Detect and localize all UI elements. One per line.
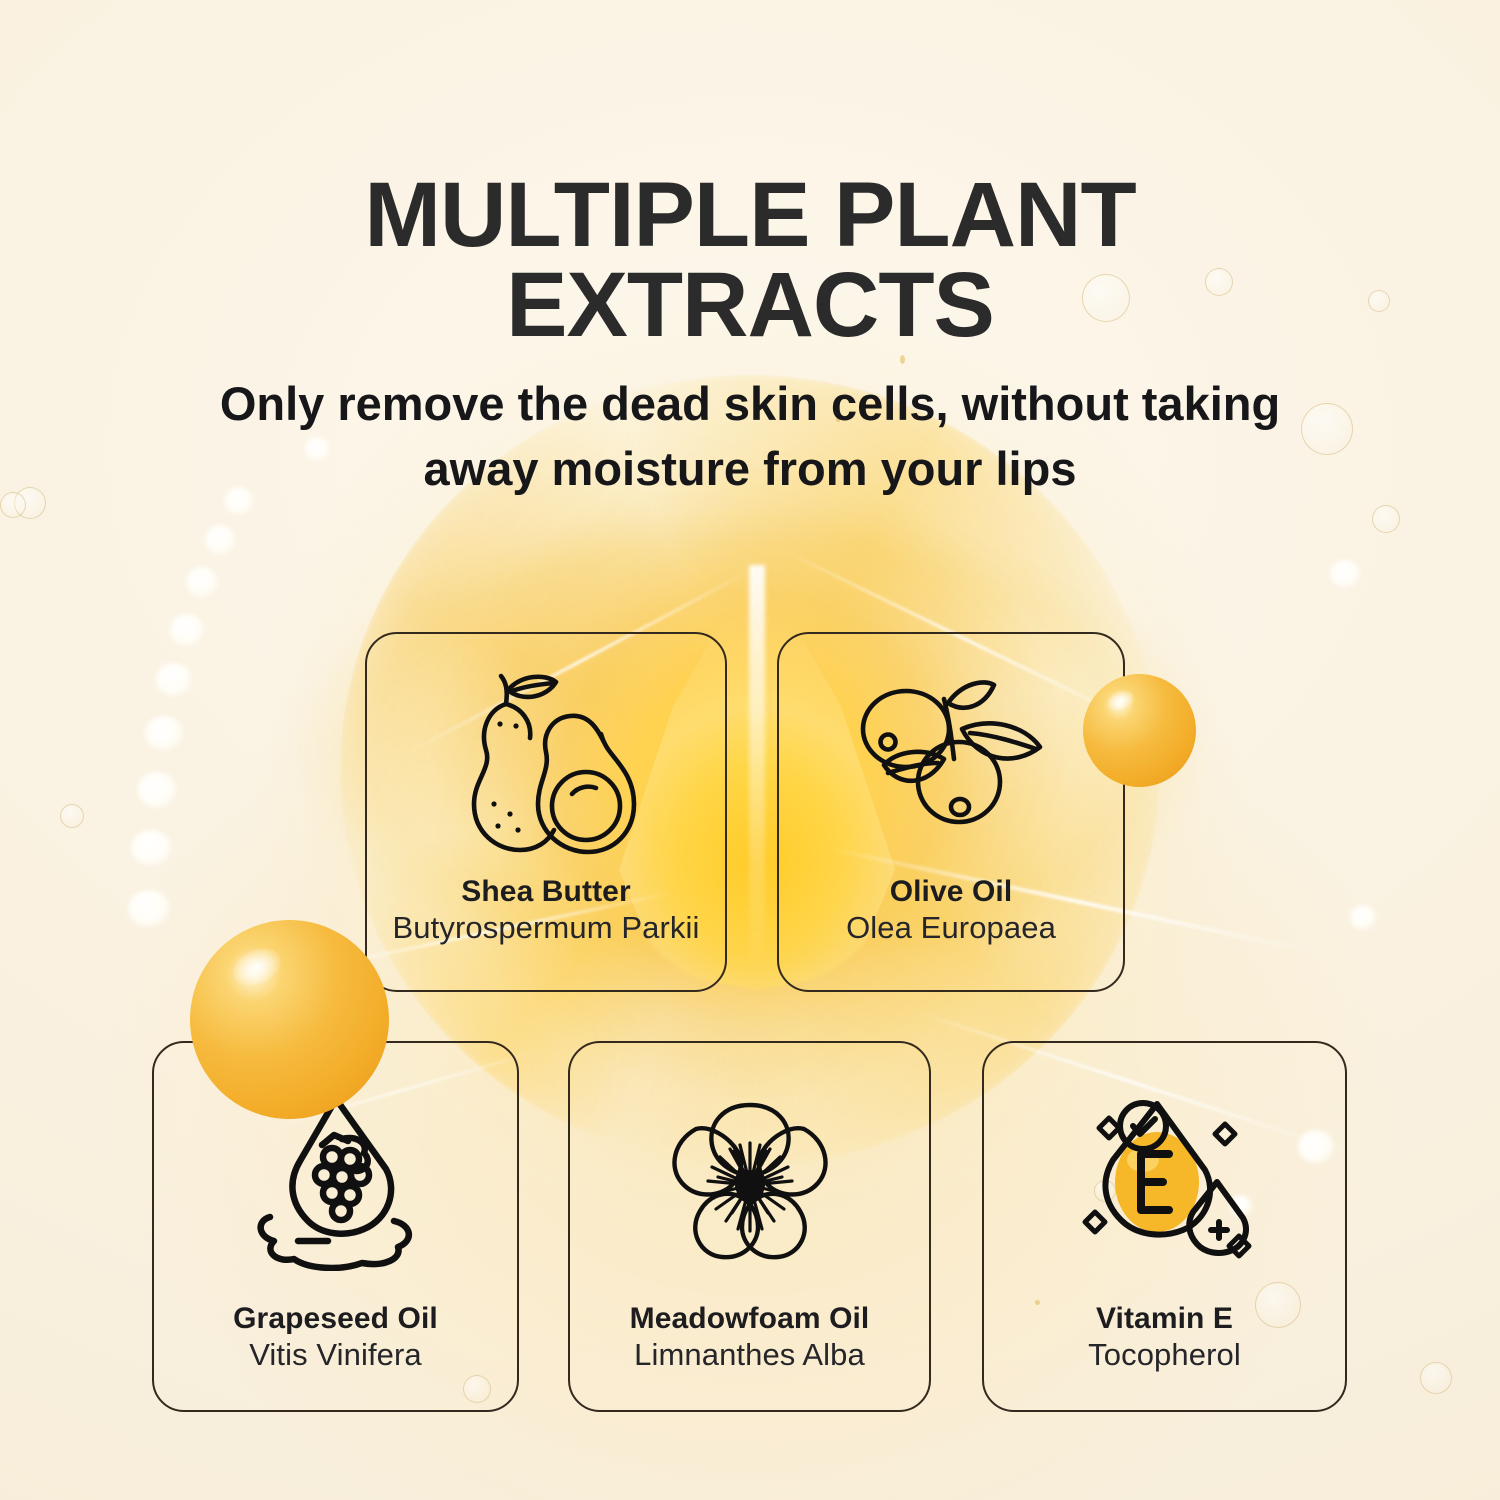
ingredient-card-olive-oil[interactable]: Olive Oil Olea Europaea	[777, 632, 1125, 992]
ingredient-label: Olive Oil Olea Europaea	[779, 874, 1123, 948]
bubble-ring	[60, 804, 84, 828]
bokeh-dot	[1330, 560, 1360, 588]
title-line-2: EXTRACTS	[0, 260, 1500, 350]
grape-droplet-icon	[154, 1081, 517, 1281]
product-infographic: MULTIPLE PLANT EXTRACTS Only remove the …	[0, 0, 1500, 1500]
ingredient-card-meadowfoam-oil[interactable]: Meadowfoam Oil Limnanthes Alba	[568, 1041, 931, 1412]
title-line-1: MULTIPLE PLANT	[364, 164, 1135, 266]
ingredient-card-vitamin-e[interactable]: Vitamin E Tocopherol	[982, 1041, 1347, 1412]
page-subtitle: Only remove the dead skin cells, without…	[130, 372, 1370, 502]
bubble-ring	[1420, 1362, 1452, 1394]
bokeh-dot	[170, 614, 204, 646]
ingredient-card-shea-butter[interactable]: Shea Butter Butyrospermum Parkii	[365, 632, 727, 992]
pear-avocado-icon	[367, 660, 725, 872]
ingredient-name: Grapeseed Oil	[154, 1301, 517, 1336]
bokeh-dot	[128, 890, 170, 927]
bokeh-dot	[145, 716, 183, 750]
bokeh-dot	[131, 830, 172, 866]
vitamin-e-droplet-icon	[984, 1081, 1345, 1281]
ingredient-label: Shea Butter Butyrospermum Parkii	[367, 874, 725, 948]
ingredient-label: Grapeseed Oil Vitis Vinifera	[154, 1301, 517, 1375]
ingredient-latin-name: Butyrospermum Parkii	[367, 909, 725, 948]
subtitle-line-1: Only remove the dead skin cells, without…	[220, 377, 1280, 430]
oil-speck	[900, 355, 905, 364]
ingredient-name: Vitamin E	[984, 1301, 1345, 1336]
decorative-sphere-right	[1083, 674, 1196, 787]
bokeh-dot	[205, 525, 235, 555]
background-droplet-highlight	[749, 565, 765, 975]
ingredient-latin-name: Olea Europaea	[779, 909, 1123, 948]
meadowfoam-flower-icon	[570, 1081, 929, 1281]
olive-branch-icon	[779, 660, 1123, 872]
subtitle-line-2: away moisture from your lips	[424, 442, 1077, 495]
ingredient-latin-name: Tocopherol	[984, 1336, 1345, 1375]
ingredient-name: Meadowfoam Oil	[570, 1301, 929, 1336]
bokeh-dot	[137, 772, 177, 808]
bokeh-dot	[186, 567, 218, 597]
page-title: MULTIPLE PLANT EXTRACTS	[0, 170, 1500, 350]
ingredient-latin-name: Limnanthes Alba	[570, 1336, 929, 1375]
decorative-sphere-left	[190, 920, 389, 1119]
ingredient-latin-name: Vitis Vinifera	[154, 1336, 517, 1375]
bubble-ring	[0, 492, 26, 518]
bokeh-dot	[1350, 905, 1376, 930]
bubble-ring	[1372, 505, 1400, 533]
bokeh-dot	[156, 663, 192, 696]
ingredient-label: Vitamin E Tocopherol	[984, 1301, 1345, 1375]
ingredient-name: Shea Butter	[367, 874, 725, 909]
ingredient-name: Olive Oil	[779, 874, 1123, 909]
ingredient-label: Meadowfoam Oil Limnanthes Alba	[570, 1301, 929, 1375]
